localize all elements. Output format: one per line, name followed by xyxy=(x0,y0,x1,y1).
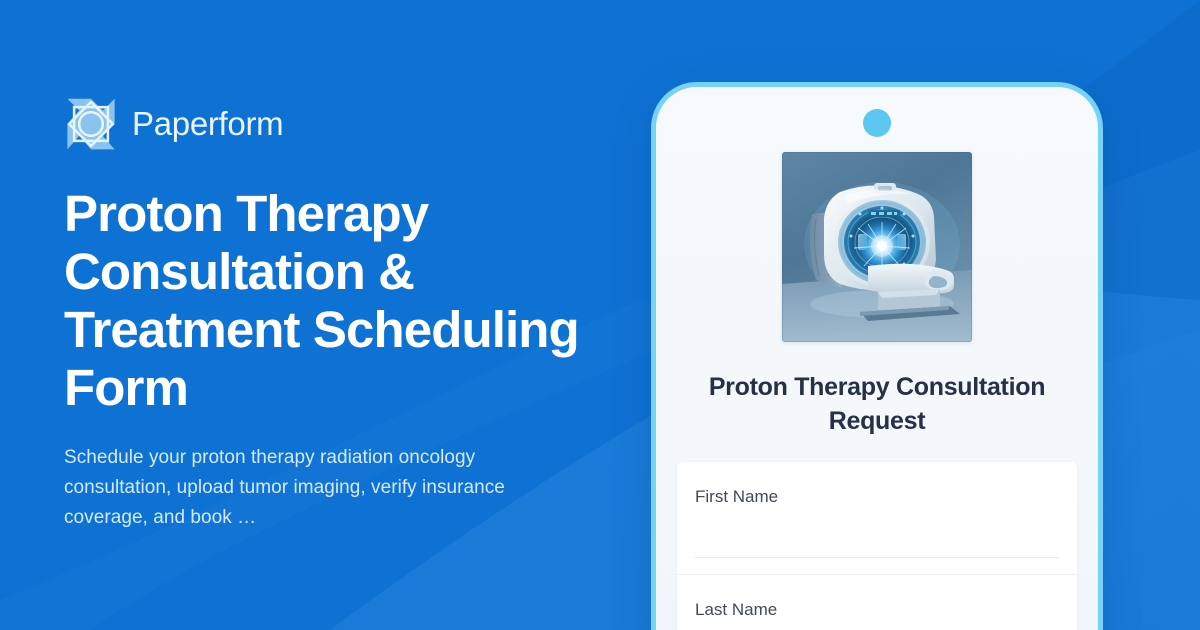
paperform-logo-icon xyxy=(64,97,118,151)
phone-mockup: Proton Therapy Consultation Request Firs… xyxy=(651,82,1103,630)
brand-name: Paperform xyxy=(132,105,283,143)
form-field-last-name[interactable]: Last Name xyxy=(677,575,1077,630)
hero-content: Paperform Proton Therapy Consultation & … xyxy=(64,0,664,630)
field-label-last-name: Last Name xyxy=(695,599,1059,621)
form-title: Proton Therapy Consultation Request xyxy=(656,370,1098,438)
page-title: Proton Therapy Consultation & Treatment … xyxy=(64,185,624,417)
first-name-input[interactable] xyxy=(695,514,1059,558)
form-card: First Name Last Name xyxy=(677,462,1077,630)
share-card-canvas: Paperform Proton Therapy Consultation & … xyxy=(0,0,1200,630)
page-subtitle: Schedule your proton therapy radiation o… xyxy=(64,443,564,533)
form-field-first-name[interactable]: First Name xyxy=(677,462,1077,575)
camera-dot-icon xyxy=(863,109,891,137)
brand-lockup: Paperform xyxy=(64,97,664,151)
field-label-first-name: First Name xyxy=(695,486,1059,508)
proton-therapy-scanner-image xyxy=(782,152,972,342)
phone-screen: Proton Therapy Consultation Request Firs… xyxy=(656,87,1098,630)
field-spacer xyxy=(695,558,1059,574)
